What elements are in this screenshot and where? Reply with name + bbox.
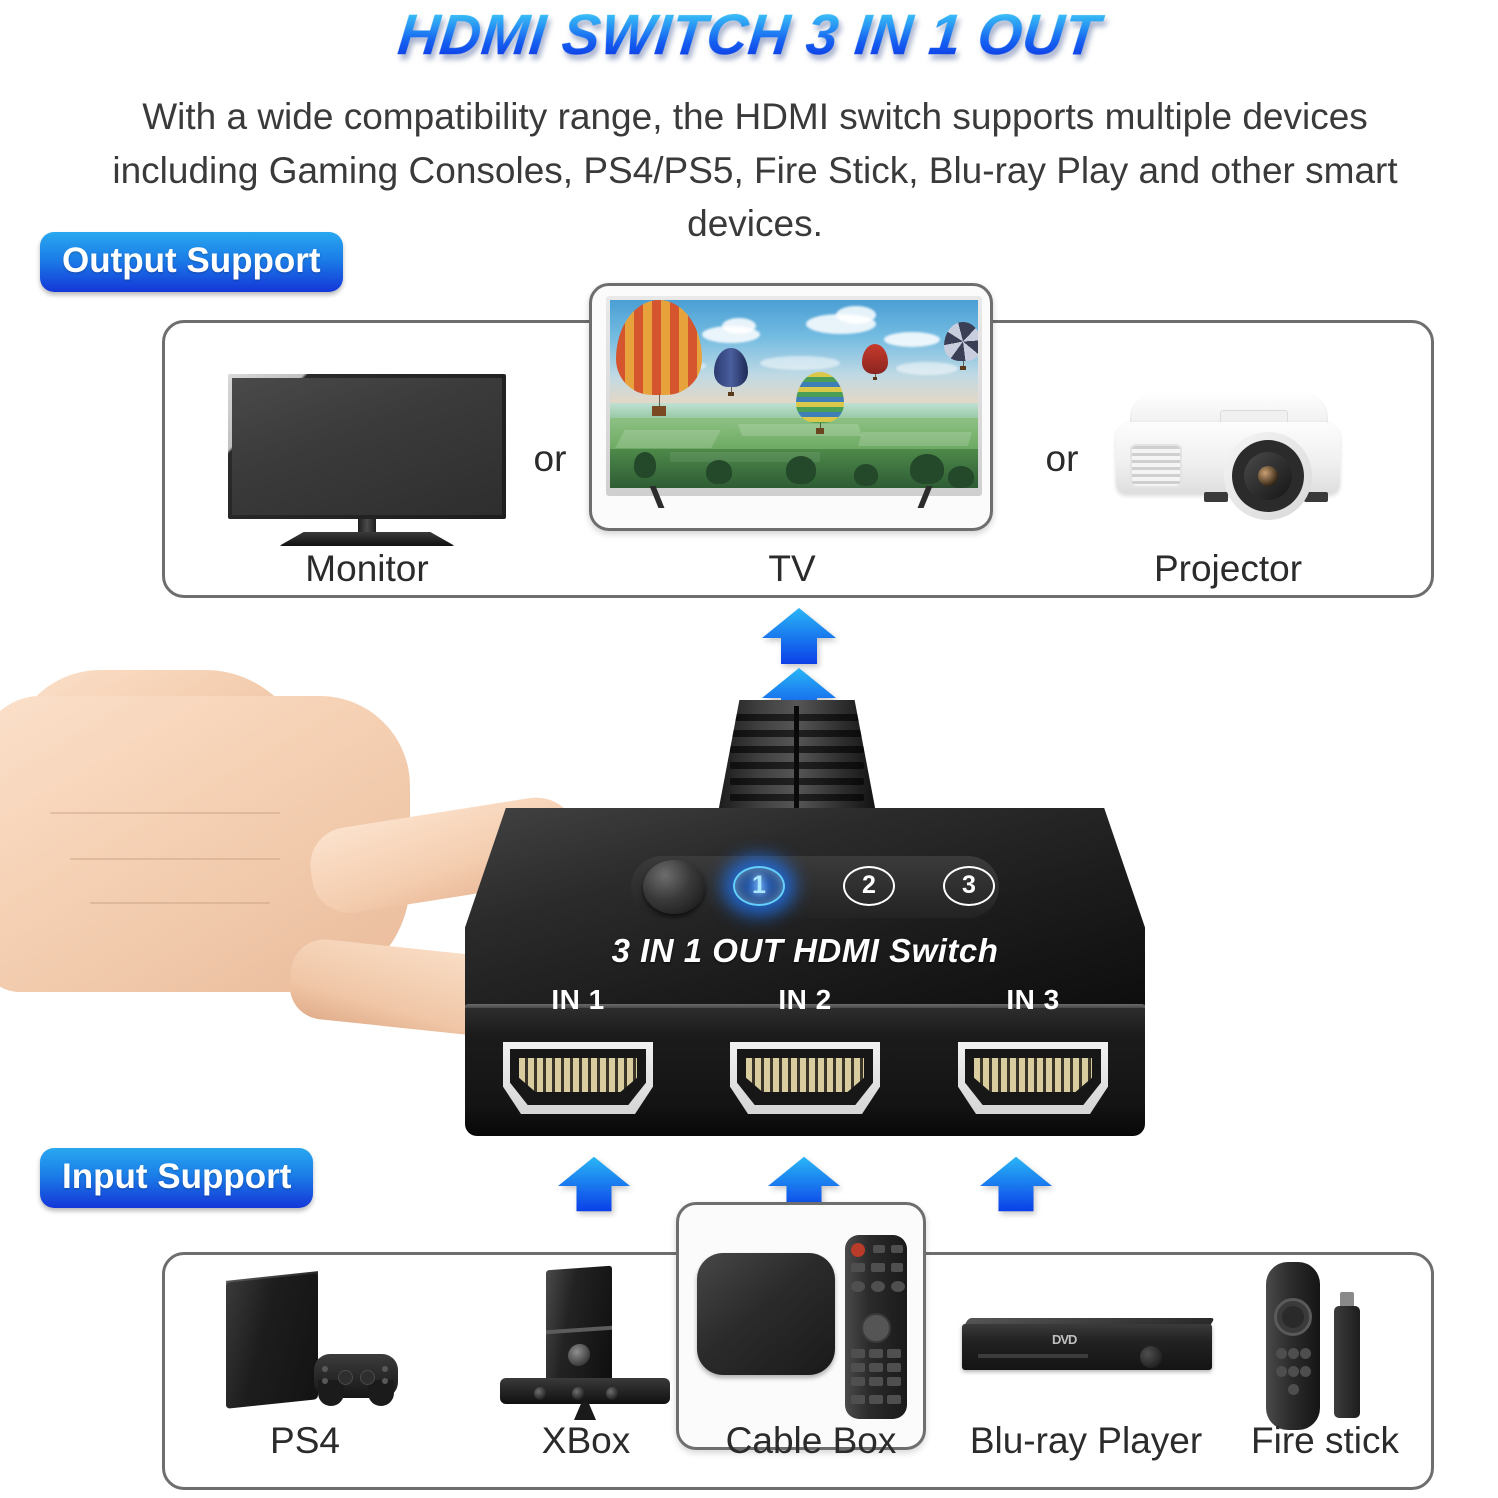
bluray-player-icon: DVD xyxy=(962,1318,1212,1388)
input-device-label-bluray: Blu-ray Player xyxy=(970,1420,1202,1462)
page-subtitle: With a wide compatibility range, the HDM… xyxy=(110,90,1400,251)
or-separator-2: or xyxy=(1046,438,1079,480)
page-title: HDMI SWITCH 3 IN 1 OUT xyxy=(0,2,1498,68)
projector-icon xyxy=(1108,392,1346,510)
led-indicator-3[interactable]: 3 xyxy=(943,866,995,906)
hdmi-port-in-3 xyxy=(958,1042,1108,1114)
port-label-in-2: IN 2 xyxy=(778,984,831,1016)
fire-stick-icon xyxy=(1262,1262,1384,1434)
arrow-up-from-input-3 xyxy=(980,1155,1052,1213)
input-device-label-xbox: XBox xyxy=(542,1420,630,1462)
or-separator-1: or xyxy=(534,438,567,480)
port-label-in-1: IN 1 xyxy=(551,984,604,1016)
hdmi-output-connector xyxy=(717,700,877,818)
led-indicator-1[interactable]: 1 xyxy=(733,866,785,906)
port-label-in-3: IN 3 xyxy=(1006,984,1059,1016)
hdmi-switch-device: 1 2 3 3 IN 1 OUT HDMI Switch IN 1 IN 2 I… xyxy=(455,700,1155,1175)
output-device-label-projector: Projector xyxy=(1154,548,1302,590)
tv-icon xyxy=(589,283,993,531)
arrow-up-to-output-1 xyxy=(762,608,836,664)
arrow-up-from-input-1 xyxy=(558,1155,630,1213)
input-device-label-cable-box: Cable Box xyxy=(726,1420,897,1462)
input-device-label-ps4: PS4 xyxy=(270,1420,340,1462)
input-device-label-fire-stick: Fire stick xyxy=(1251,1420,1399,1462)
input-support-badge: Input Support xyxy=(40,1148,313,1208)
hdmi-port-in-2 xyxy=(730,1042,880,1114)
output-device-label-monitor: Monitor xyxy=(305,548,428,590)
output-support-badge: Output Support xyxy=(40,232,343,292)
device-brand-text: 3 IN 1 OUT HDMI Switch xyxy=(455,932,1155,970)
playstation-console-icon xyxy=(216,1270,416,1420)
hdmi-port-in-1 xyxy=(503,1042,653,1114)
led-indicator-2[interactable]: 2 xyxy=(843,866,895,906)
tv-screen-image xyxy=(610,300,978,488)
monitor-icon xyxy=(228,374,506,549)
cable-box-icon xyxy=(676,1202,926,1450)
xbox-console-icon xyxy=(500,1268,680,1426)
mode-push-button[interactable] xyxy=(643,860,705,914)
output-device-label-tv: TV xyxy=(768,548,815,590)
